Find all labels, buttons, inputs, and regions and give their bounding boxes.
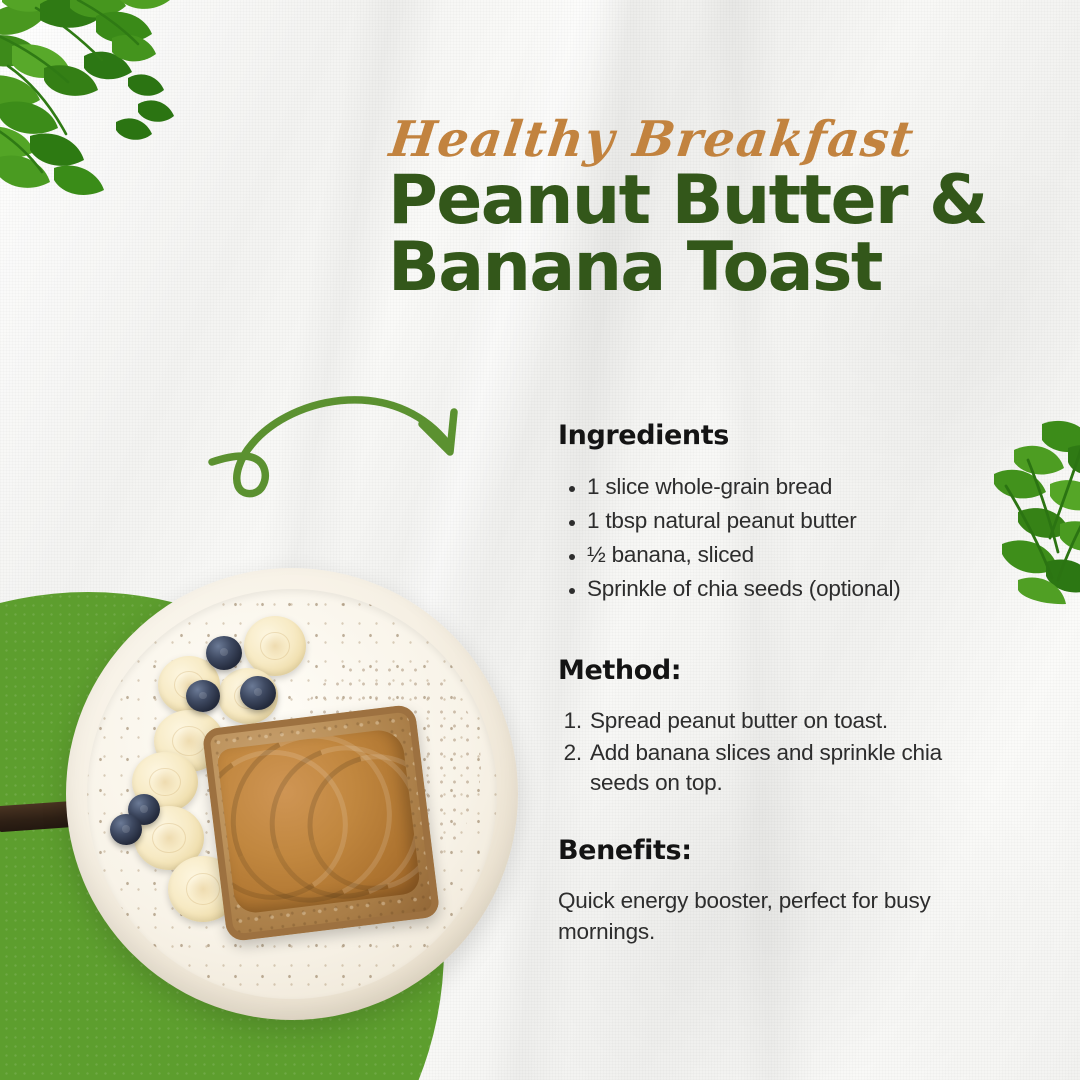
method-section: Method: Spread peanut butter on toast. A… [558, 655, 988, 800]
benefits-section: Benefits: Quick energy booster, perfect … [558, 835, 988, 947]
blueberry [240, 676, 276, 710]
title-line-2: Banana Toast [388, 235, 988, 302]
food-photo [58, 520, 530, 992]
list-item: ½ banana, sliced [587, 540, 988, 571]
method-heading: Method: [558, 655, 988, 686]
blueberry [186, 680, 220, 712]
benefits-heading: Benefits: [558, 835, 988, 866]
list-item: Sprinkle of chia seeds (optional) [587, 574, 988, 605]
peanut-butter-spread [216, 728, 421, 915]
benefits-text: Quick energy booster, perfect for busy m… [558, 886, 988, 947]
banana-slice [244, 616, 306, 676]
plate [66, 568, 518, 1020]
toast [202, 704, 440, 942]
parsley-herb-icon [0, 0, 208, 197]
parsley-herb-icon [988, 420, 1080, 605]
list-item: 1 tbsp natural peanut butter [587, 506, 988, 537]
method-list: Spread peanut butter on toast. Add banan… [558, 706, 988, 799]
eyebrow-heading: Healthy Breakfast [386, 110, 953, 168]
ingredients-section: Ingredients 1 slice whole-grain bread 1 … [558, 420, 988, 608]
ingredients-heading: Ingredients [558, 420, 988, 451]
page-title: Peanut Butter & Banana Toast [388, 168, 988, 301]
blueberry [206, 636, 242, 670]
list-item: 1 slice whole-grain bread [587, 472, 988, 503]
list-item: Spread peanut butter on toast. [588, 706, 988, 737]
recipe-poster: Healthy Breakfast Peanut Butter & Banana… [0, 0, 1080, 1080]
curved-arrow-icon [196, 382, 486, 502]
list-item: Add banana slices and sprinkle chia seed… [588, 738, 988, 799]
ingredients-list: 1 slice whole-grain bread 1 tbsp natural… [558, 472, 988, 605]
blueberry [110, 814, 142, 845]
